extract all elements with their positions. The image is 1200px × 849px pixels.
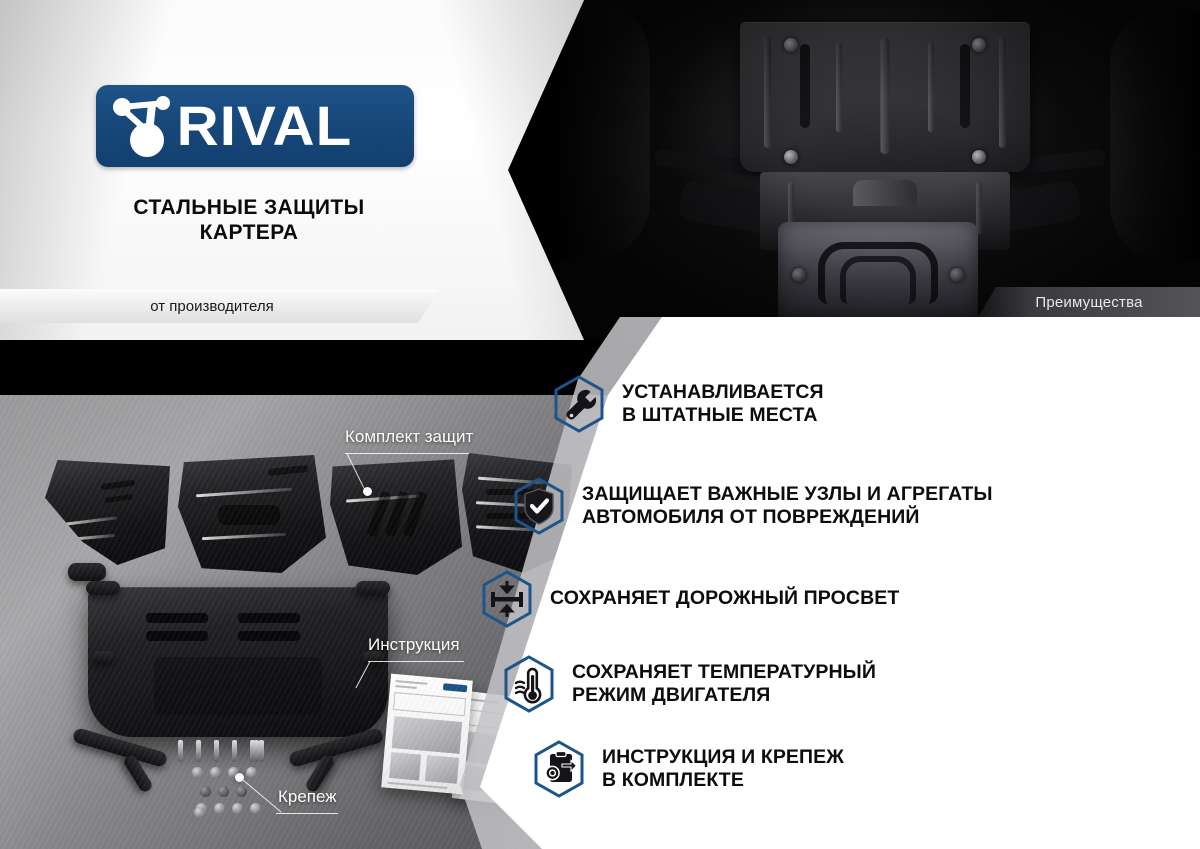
advantage-line2-1: В ШТАТНЫЕ МЕСТА — [622, 404, 824, 427]
advantage-text-5: ИНСТРУКЦИЯ И КРЕПЕЖ В КОМПЛЕКТЕ — [602, 746, 844, 793]
hero-subtitle-bar: от производителя — [0, 289, 440, 323]
advantage-item-1: УСТАНАВЛИВАЕТСЯ В ШТАТНЫЕ МЕСТА — [552, 375, 824, 433]
advantage-item-3: СОХРАНЯЕТ ДОРОЖНЫЙ ПРОСВЕТ — [480, 570, 899, 628]
advantages-banner: Преимущества — [978, 287, 1200, 317]
skid-plate-1-tab — [68, 563, 106, 581]
wrench-icon — [552, 375, 606, 433]
hero-title: СТАЛЬНЫЕ ЗАЩИТЫ КАРТЕРА — [0, 196, 498, 246]
molecule-icon — [106, 90, 182, 162]
advantage-line1-1: УСТАНАВЛИВАЕТСЯ — [622, 381, 824, 404]
callout-kit-rule — [345, 453, 469, 454]
advantage-text-4: СОХРАНЯЕТ ТЕМПЕРАТУРНЫЙ РЕЖИМ ДВИГАТЕЛЯ — [572, 661, 876, 708]
callout-kit-dot — [363, 487, 372, 496]
callout-kit-label: Комплект защит — [345, 427, 473, 447]
advantages-banner-label: Преимущества — [1035, 294, 1142, 311]
advantage-line1-3: СОХРАНЯЕТ ДОРОЖНЫЙ ПРОСВЕТ — [550, 587, 899, 610]
advantage-text-2: ЗАЩИЩАЕТ ВАЖНЫЕ УЗЛЫ И АГРЕГАТЫ АВТОМОБИ… — [582, 483, 993, 530]
advantages-list: УСТАНАВЛИВАЕТСЯ В ШТАТНЫЕ МЕСТА ЗАЩИЩАЕТ… — [480, 317, 1200, 849]
clipboard-hardware-icon — [532, 740, 586, 798]
advantage-line1-4: СОХРАНЯЕТ ТЕМПЕРАТУРНЫЙ — [572, 661, 876, 684]
callout-hardware-rule — [276, 813, 338, 814]
ground-clearance-icon — [480, 570, 534, 628]
rival-logo: RIVAL — [96, 85, 414, 167]
shield-check-icon — [512, 477, 566, 535]
advantage-line1-5: ИНСТРУКЦИЯ И КРЕПЕЖ — [602, 746, 844, 769]
instruction-sheet-front — [381, 674, 473, 795]
advantage-line2-5: В КОМПЛЕКТЕ — [602, 769, 844, 792]
advantage-item-4: СОХРАНЯЕТ ТЕМПЕРАТУРНЫЙ РЕЖИМ ДВИГАТЕЛЯ — [502, 655, 876, 713]
tire-right — [1110, 10, 1200, 260]
advantage-item-2: ЗАЩИЩАЕТ ВАЖНЫЕ УЗЛЫ И АГРЕГАТЫ АВТОМОБИ… — [512, 477, 993, 535]
advantage-item-5: ИНСТРУКЦИЯ И КРЕПЕЖ В КОМПЛЕКТЕ — [532, 740, 844, 798]
engine-skid-plate — [740, 22, 1030, 172]
skid-plate-1 — [45, 460, 170, 565]
promo-banner: Преимущества RIVAL СТАЛЬНЫЕ ЗАЩИТЫ КАРТЕ… — [0, 0, 1200, 849]
hero-title-line2: КАРТЕРА — [0, 221, 498, 246]
advantage-line1-2: ЗАЩИЩАЕТ ВАЖНЫЕ УЗЛЫ И АГРЕГАТЫ — [582, 483, 993, 506]
advantage-line2-4: РЕЖИМ ДВИГАТЕЛЯ — [572, 684, 876, 707]
advantage-text-1: УСТАНАВЛИВАЕТСЯ В ШТАТНЫЕ МЕСТА — [622, 381, 824, 428]
main-skid-plate — [88, 587, 388, 737]
skid-plate-3 — [330, 457, 462, 575]
advantage-text-3: СОХРАНЯЕТ ДОРОЖНЫЙ ПРОСВЕТ — [550, 587, 899, 610]
callout-hardware-label: Крепеж — [278, 787, 337, 807]
callout-manual-label: Инструкция — [368, 635, 460, 655]
tire-left — [560, 0, 650, 260]
callout-manual-rule — [368, 661, 464, 662]
thermometer-icon — [502, 655, 556, 713]
hero-subtitle: от производителя — [150, 298, 289, 315]
transfer-case-skid-plate — [778, 222, 978, 322]
advantage-line2-2: АВТОМОБИЛЯ ОТ ПОВРЕЖДЕНИЙ — [582, 506, 993, 529]
skid-plate-2 — [178, 455, 326, 573]
hero-title-line1: СТАЛЬНЫЕ ЗАЩИТЫ — [0, 196, 498, 221]
rival-wordmark: RIVAL — [177, 98, 353, 154]
